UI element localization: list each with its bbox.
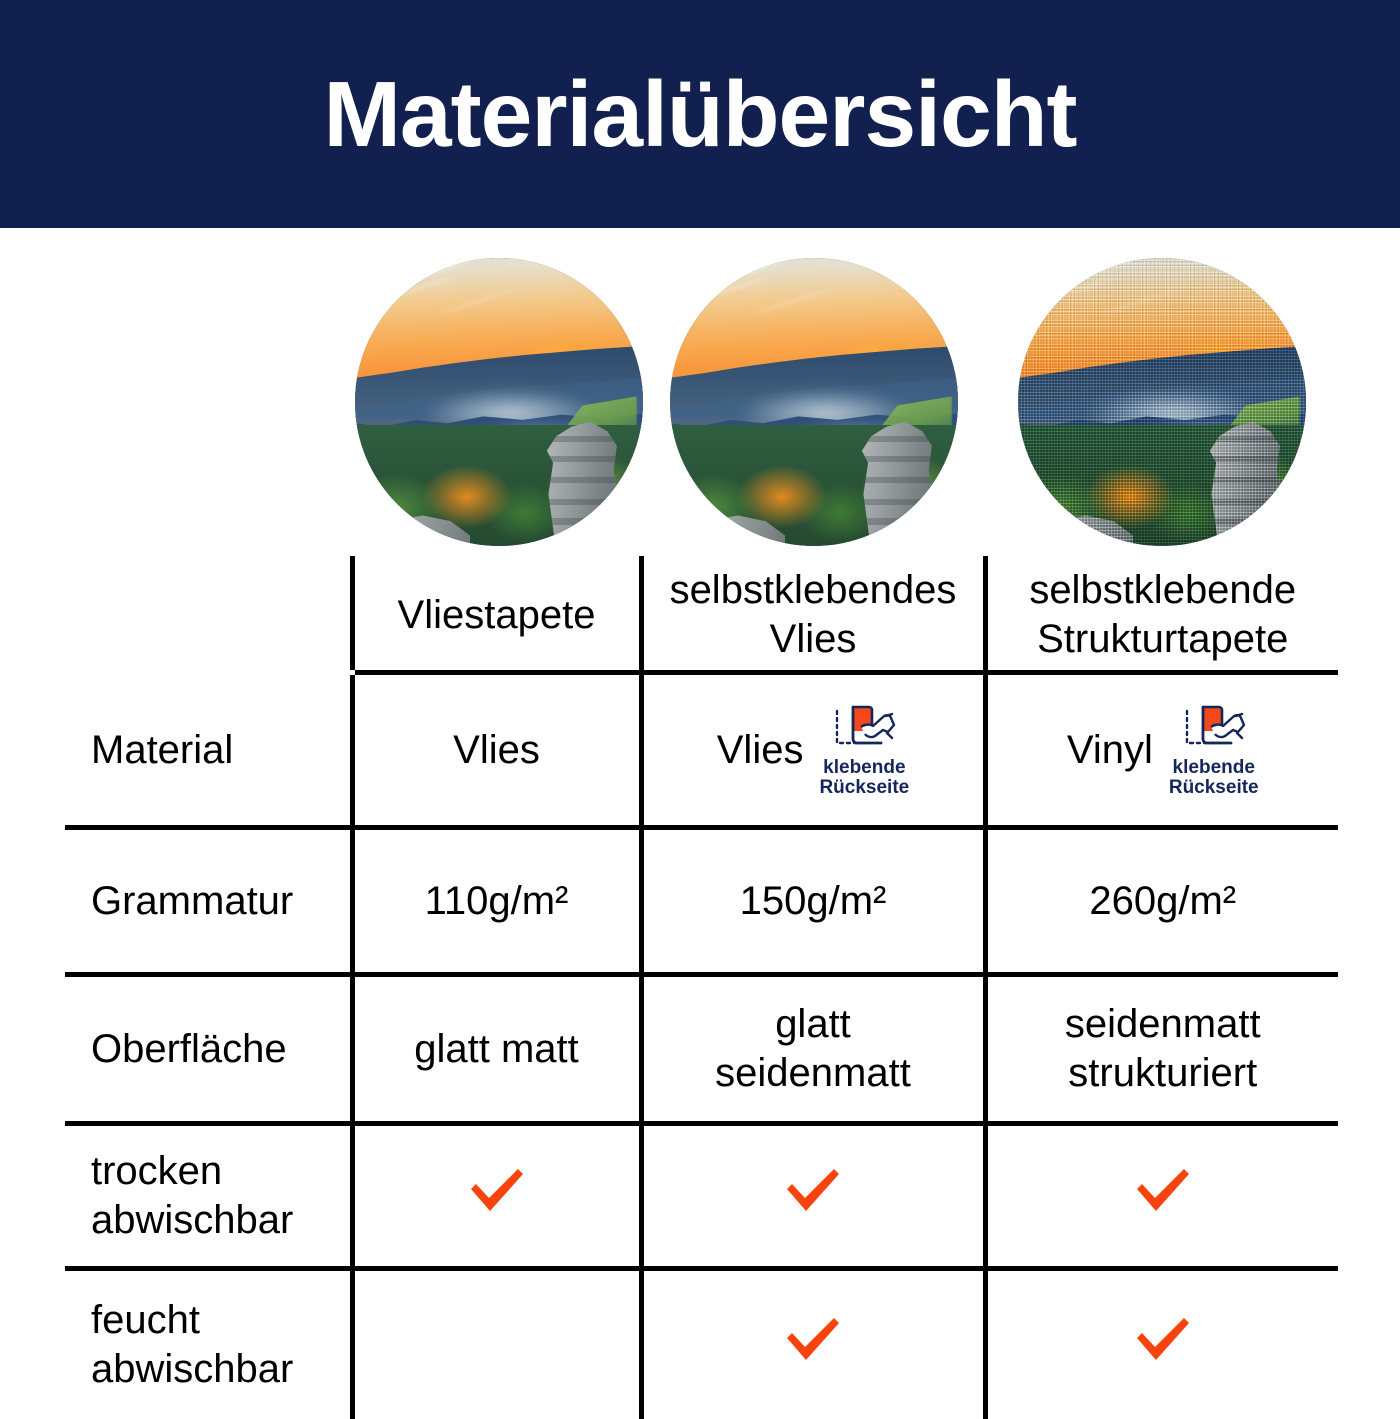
structure-texture-overlay [1018, 258, 1306, 546]
cell-material-selbstklebendes-vlies: Vlies [641, 673, 985, 828]
checkmark-icon [466, 1165, 528, 1215]
material-comparison-table: Vliestapete selbstklebendes Vlies selbst… [65, 556, 1338, 1401]
row-label-feucht-abwischbar: feucht abwischbar [65, 1269, 352, 1419]
cell-grammatur-selbstklebendes-vlies: 150g/m² [641, 828, 985, 975]
checkmark-icon [782, 1314, 844, 1364]
peel-adhesive-back-icon [831, 703, 897, 755]
cloud-streak-icon [753, 288, 831, 316]
cell-value: Vinyl [1067, 726, 1153, 775]
badge-label: klebendeRückseite [1169, 758, 1259, 798]
cell-grammatur-selbstklebende-strukturtapete: 260g/m² [985, 828, 1338, 975]
cell-feucht-selbstklebendes-vlies [641, 1269, 985, 1419]
checkmark-icon [782, 1165, 844, 1215]
page-header: Materialübersicht [0, 0, 1400, 228]
cloud-streak-icon [703, 275, 769, 299]
cell-grammatur-vliestapete: 110g/m² [352, 828, 641, 975]
table-row-trocken-abwischbar: trocken abwischbar [65, 1124, 1338, 1269]
sample-selbstklebendes-vlies [670, 258, 958, 546]
cell-trocken-selbstklebendes-vlies [641, 1124, 985, 1269]
table-row-material: Material Vlies Vlies [65, 673, 1338, 828]
sample-image-circle [670, 258, 958, 546]
cell-trocken-selbstklebende-strukturtapete [985, 1124, 1338, 1269]
badge-label: klebendeRückseite [819, 758, 909, 798]
cell-feucht-vliestapete [352, 1269, 641, 1419]
column-header-selbstklebendes-vlies: selbstklebendes Vlies [641, 556, 985, 673]
row-label-oberflaeche: Oberfläche [65, 975, 352, 1124]
peel-adhesive-back-icon [1181, 703, 1247, 755]
table-header-row: Vliestapete selbstklebendes Vlies selbst… [65, 556, 1338, 673]
row-label-grammatur: Grammatur [65, 828, 352, 975]
cell-material-vliestapete: Vlies [352, 673, 641, 828]
cell-oberflaeche-selbstklebendes-vlies: glatt seidenmatt [641, 975, 985, 1124]
cloud-streak-icon [388, 275, 454, 299]
table-row-oberflaeche: Oberfläche glatt matt glatt seidenmatt s… [65, 975, 1338, 1124]
cell-value: Vlies [453, 726, 540, 775]
page-title: Materialübersicht [323, 68, 1076, 161]
sample-vliestapete [355, 258, 643, 546]
table-row-feucht-abwischbar: feucht abwischbar [65, 1269, 1338, 1419]
klebende-rueckseite-badge: klebendeRückseite [819, 703, 909, 798]
checkmark-icon [1132, 1165, 1194, 1215]
sample-selbstklebende-strukturtapete [1018, 258, 1306, 546]
cell-oberflaeche-vliestapete: glatt matt [352, 975, 641, 1124]
column-header-vliestapete: Vliestapete [352, 556, 641, 673]
table-header-empty [65, 556, 352, 673]
cell-oberflaeche-selbstklebende-strukturtapete: seidenmatt strukturiert [985, 975, 1338, 1124]
column-header-selbstklebende-strukturtapete: selbstklebende Strukturtapete [985, 556, 1338, 673]
material-sample-row [352, 258, 1342, 550]
cell-value: Vlies [717, 726, 804, 775]
table-row-grammatur: Grammatur 110g/m² 150g/m² 260g/m² [65, 828, 1338, 975]
cell-material-selbstklebende-strukturtapete: Vinyl [985, 673, 1338, 828]
row-label-material: Material [65, 673, 352, 828]
cell-trocken-vliestapete [352, 1124, 641, 1269]
cell-feucht-selbstklebende-strukturtapete [985, 1269, 1338, 1419]
sample-image-circle [355, 258, 643, 546]
row-label-trocken-abwischbar: trocken abwischbar [65, 1124, 352, 1269]
sample-image-circle [1018, 258, 1306, 546]
klebende-rueckseite-badge: klebendeRückseite [1169, 703, 1259, 798]
checkmark-icon [1132, 1314, 1194, 1364]
cloud-streak-icon [438, 288, 516, 316]
